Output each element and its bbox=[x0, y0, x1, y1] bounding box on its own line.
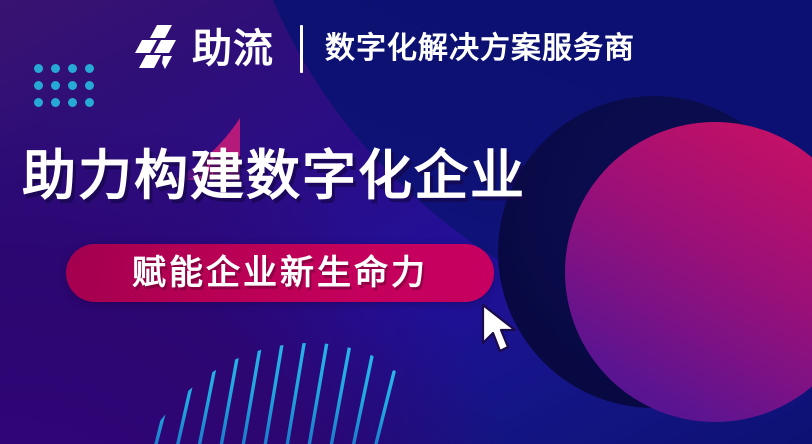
brand-name: 助流 bbox=[192, 29, 274, 69]
zhuliu-lightning-blocks-logo-icon bbox=[132, 23, 184, 75]
diagonal-fan-lines-decoration bbox=[140, 330, 400, 444]
brand-header: 助流 数字化解决方案服务商 bbox=[132, 18, 635, 80]
cyan-dot-grid-decoration bbox=[34, 64, 102, 115]
brand-tagline: 数字化解决方案服务商 bbox=[325, 34, 635, 64]
cta-button[interactable]: 赋能企业新生命力 bbox=[66, 244, 494, 302]
cta-button-label: 赋能企业新生命力 bbox=[132, 256, 428, 290]
mouse-pointer-arrow-icon bbox=[478, 303, 522, 355]
promo-banner: 助流 数字化解决方案服务商 助力构建数字化企业 赋能企业新生命力 bbox=[0, 0, 812, 444]
page-title: 助力构建数字化企业 bbox=[22, 148, 526, 205]
brand-divider bbox=[300, 25, 303, 73]
